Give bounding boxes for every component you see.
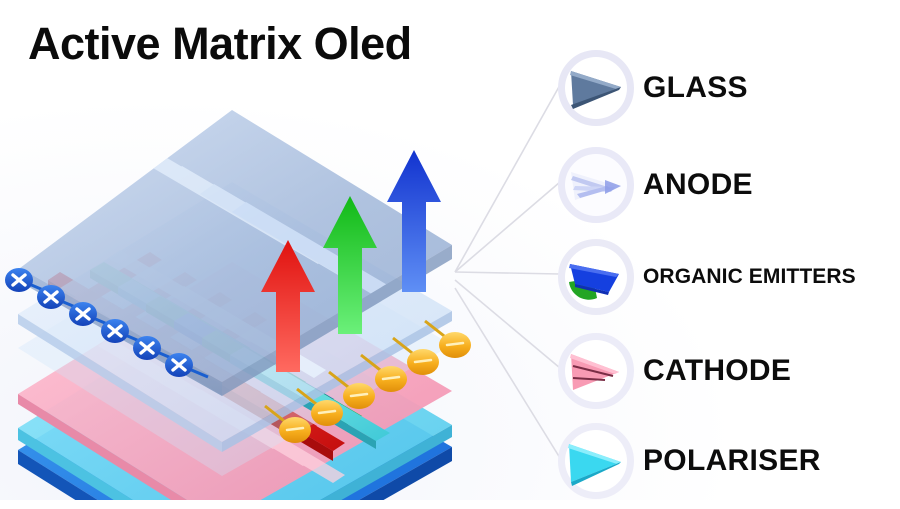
emitter-wedge-icon (553, 234, 639, 320)
legend-label-cathode: CATHODE (643, 354, 791, 388)
leader-line-glass (455, 85, 560, 272)
legend-item-glass[interactable]: GLASS (553, 42, 748, 134)
legend-item-organic-emitters[interactable]: ORGANIC EMITTERS (553, 231, 856, 323)
legend-label-glass: GLASS (643, 71, 748, 105)
legend: GLASS ANODE (553, 42, 900, 500)
polariser-wedge-icon (553, 418, 639, 504)
leader-line-anode (455, 182, 560, 272)
legend-item-cathode[interactable]: CATHODE (553, 325, 791, 417)
leader-lines (455, 85, 560, 458)
legend-label-anode: ANODE (643, 168, 753, 202)
legend-item-anode[interactable]: ANODE (553, 139, 753, 231)
glass-wedge-icon (553, 45, 639, 131)
leader-line-polariser (455, 288, 560, 458)
leader-line-cathode (455, 280, 560, 368)
legend-label-organic-emitters: ORGANIC EMITTERS (643, 265, 856, 289)
legend-item-polariser[interactable]: POLARISER (553, 415, 821, 507)
diagram-canvas: Active Matrix Oled (0, 0, 900, 500)
legend-label-polariser: POLARISER (643, 444, 821, 478)
leader-line-organic-emitters (455, 272, 560, 274)
cathode-wedge-icon (553, 328, 639, 414)
anode-stripes-icon (553, 142, 639, 228)
